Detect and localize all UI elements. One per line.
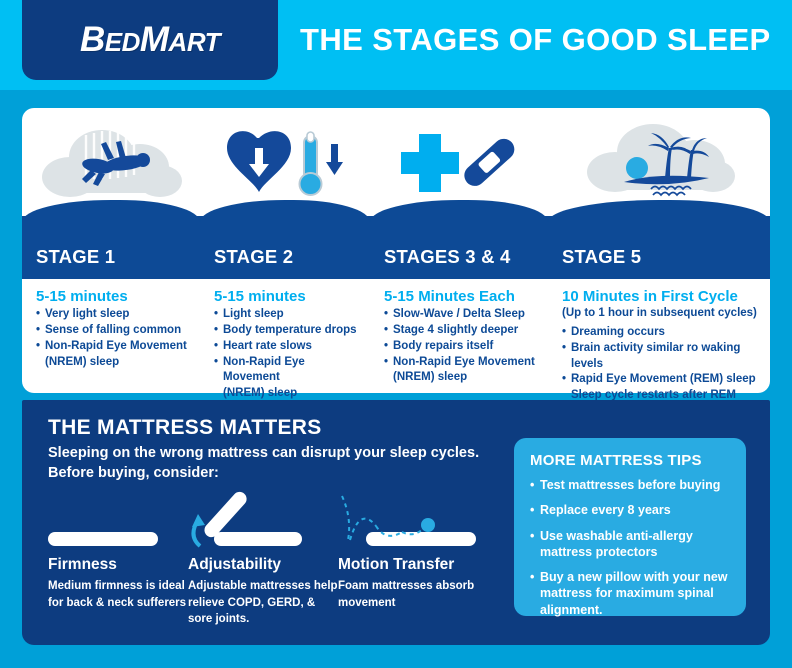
more-mattress-tips-panel: MORE MATTRESS TIPS Test mattresses befor… — [514, 438, 746, 616]
list-item: Sense of falling common — [36, 323, 190, 338]
stage-column-4: STAGE 5 10 Minutes in First Cycle (Up to… — [548, 108, 770, 393]
stage-1-header: STAGE 1 — [22, 216, 200, 279]
feature-firmness-title: Firmness — [48, 556, 198, 574]
stage-3-points: Slow-Wave / Delta Sleep Stage 4 slightly… — [384, 307, 538, 385]
bedmart-logo[interactable]: BEDMART — [22, 0, 278, 80]
list-item: (NREM) sleep — [384, 370, 538, 385]
stage-3-duration: 5-15 Minutes Each — [384, 288, 538, 305]
list-item: Body repairs itself — [384, 339, 538, 354]
list-item: Replace every 8 years — [530, 502, 732, 518]
stage-2-body: 5-15 minutes Light sleep Body temperatur… — [200, 279, 370, 401]
list-item: Non-Rapid Eye Movement — [36, 339, 190, 354]
page-header: BEDMART THE STAGES OF GOOD SLEEP — [0, 0, 792, 90]
mattress-features: Firmness Medium firmness is ideal for ba… — [48, 500, 518, 630]
list-item: Buy a new pillow with your new mattress … — [530, 569, 732, 618]
mattress-section-title: THE MATTRESS MATTERS — [48, 416, 322, 440]
stage-1-duration: 5-15 minutes — [36, 288, 190, 305]
list-item: Use washable anti-allergy mattress prote… — [530, 528, 732, 561]
stage-3-label: STAGES 3 & 4 — [370, 246, 510, 279]
stage-2-duration: 5-15 minutes — [214, 288, 360, 305]
list-item: Light sleep — [214, 307, 360, 322]
feature-motion-transfer: Motion Transfer Foam mattresses absorb m… — [338, 500, 513, 611]
stage-3-header: STAGES 3 & 4 — [370, 216, 548, 279]
stage-4-points: Dreaming occurs Brain activity similar r… — [562, 325, 760, 403]
feature-motion-transfer-desc: Foam mattresses absorb movement — [338, 578, 513, 611]
stage-4-duration-sub: (Up to 1 hour in subsequent cycles) — [562, 307, 760, 320]
list-item: Brain activity similar ro waking levels — [562, 341, 760, 372]
list-item: Dreaming occurs — [562, 325, 760, 340]
stage-column-1: STAGE 1 5-15 minutes Very light sleep Se… — [22, 108, 200, 393]
stage-1-label: STAGE 1 — [22, 246, 115, 279]
list-item: Very light sleep — [36, 307, 190, 322]
stage-4-label: STAGE 5 — [548, 246, 641, 279]
list-item: Test mattresses before buying — [530, 477, 732, 493]
stage-4-header: STAGE 5 — [548, 216, 770, 279]
mattress-panel: THE MATTRESS MATTERS Sleeping on the wro… — [22, 400, 770, 645]
logo-wordmark: BEDMART — [80, 20, 220, 60]
page-title: THE STAGES OF GOOD SLEEP — [300, 0, 771, 80]
stage-1-body: 5-15 minutes Very light sleep Sense of f… — [22, 279, 200, 370]
feature-adjustability: Adjustability Adjustable mattresses help… — [188, 500, 338, 628]
list-item: Heart rate slows — [214, 339, 360, 354]
list-item: (NREM) sleep — [214, 386, 360, 401]
stage-2-header: STAGE 2 — [200, 216, 370, 279]
stage-1-points: Very light sleep Sense of falling common… — [36, 307, 190, 370]
stage-column-3: STAGES 3 & 4 5-15 Minutes Each Slow-Wave… — [370, 108, 548, 393]
stage-2-label: STAGE 2 — [200, 246, 293, 279]
stage-2-points: Light sleep Body temperature drops Heart… — [214, 307, 360, 401]
stages-card: STAGE 1 5-15 minutes Very light sleep Se… — [22, 108, 770, 393]
stage-3-body: 5-15 Minutes Each Slow-Wave / Delta Slee… — [370, 279, 548, 386]
stage-4-body: 10 Minutes in First Cycle (Up to 1 hour … — [548, 279, 770, 403]
feature-adjustability-desc: Adjustable mattresses help relieve COPD,… — [188, 578, 338, 628]
list-item: Slow-Wave / Delta Sleep — [384, 307, 538, 322]
list-item: Body temperature drops — [214, 323, 360, 338]
list-item: Non-Rapid Eye Movement — [384, 355, 538, 370]
feature-firmness-desc: Medium firmness is ideal for back & neck… — [48, 578, 198, 611]
adjustable-mattress-icon — [188, 500, 338, 552]
stage-column-2: STAGE 2 5-15 minutes Light sleep Body te… — [200, 108, 370, 393]
stages-row: STAGE 1 5-15 minutes Very light sleep Se… — [22, 108, 770, 393]
motion-transfer-ball-icon — [338, 500, 513, 552]
list-item: (NREM) sleep — [36, 355, 190, 370]
tips-list: Test mattresses before buying Replace ev… — [514, 477, 746, 618]
feature-firmness: Firmness Medium firmness is ideal for ba… — [48, 500, 198, 611]
list-item: Rapid Eye Movement (REM) sleep — [562, 372, 760, 387]
stage-4-duration: 10 Minutes in First Cycle — [562, 288, 760, 305]
mattress-section-subtitle: Sleeping on the wrong mattress can disru… — [48, 444, 508, 483]
tips-title: MORE MATTRESS TIPS — [530, 452, 746, 469]
feature-adjustability-title: Adjustability — [188, 556, 338, 574]
list-item: Stage 4 slightly deeper — [384, 323, 538, 338]
flat-mattress-icon — [48, 500, 198, 552]
list-item: Non-Rapid Eye Movement — [214, 355, 360, 386]
feature-motion-transfer-title: Motion Transfer — [338, 556, 513, 574]
